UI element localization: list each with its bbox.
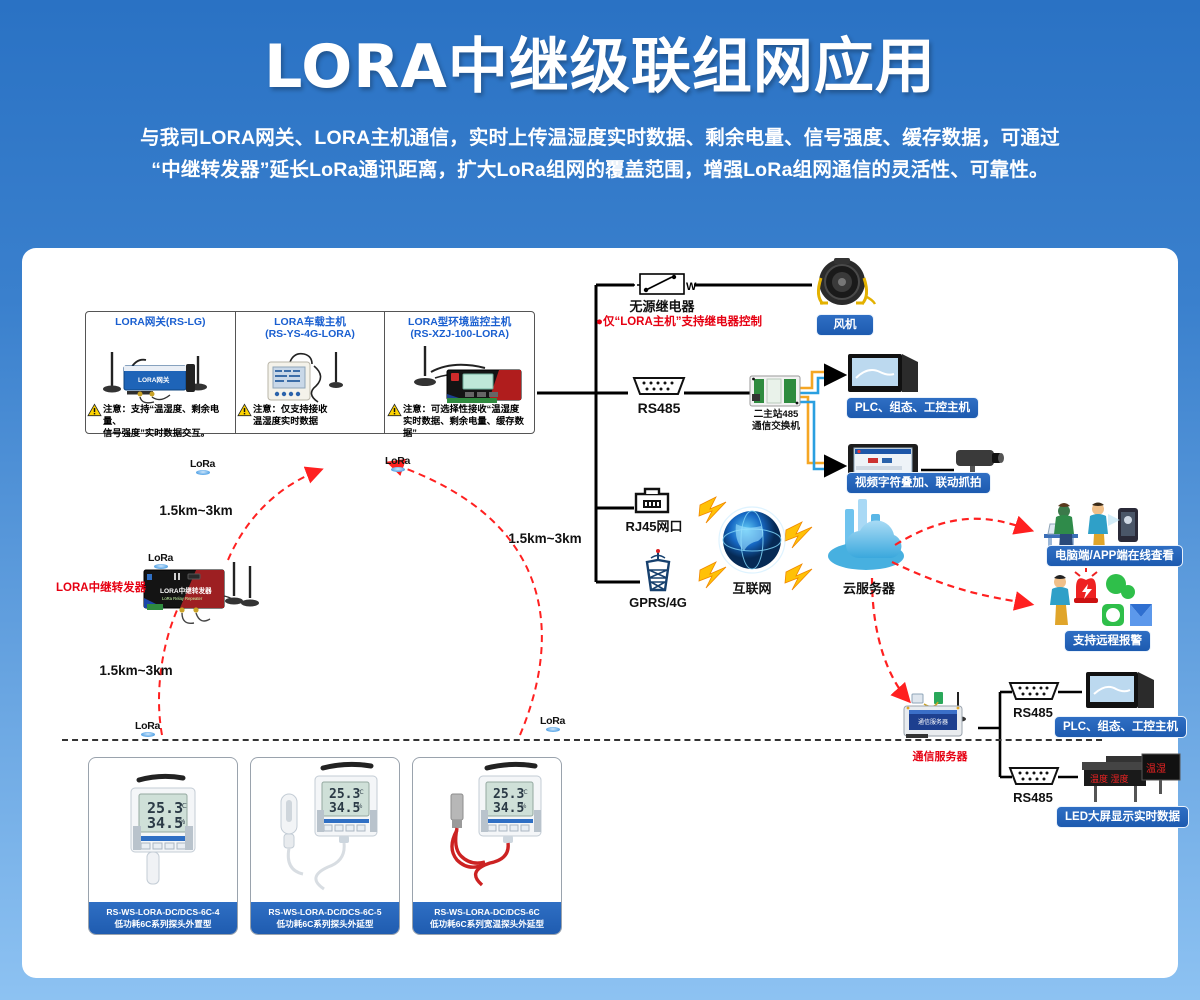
lora-signal-dot-icon xyxy=(141,732,155,737)
video-label: 视频字符叠加、联动抓拍 xyxy=(846,472,991,494)
svg-text:LORA中继转发器: LORA中继转发器 xyxy=(160,586,212,595)
distance-label-3: 1.5km~3km xyxy=(86,663,186,678)
relay-note: ●仅“LORA主机”支持继电器控制 xyxy=(596,313,786,329)
alarm-label: 支持远程报警 xyxy=(1064,630,1151,652)
rs485-switch-icon xyxy=(748,374,802,408)
page-header: LORA中继级联组网应用 与我司LORA网关、LORA主机通信，实时上传温湿度实… xyxy=(0,0,1200,186)
temp-humidity-sensor-extended-probe-icon: 25.3 ℃ 34.5 % xyxy=(251,758,400,904)
rj45-label: RJ45网口 xyxy=(616,516,692,535)
product-cell-env-host[interactable]: LORA型环境监控主机 (RS-XZJ-100-LORA) xyxy=(384,312,534,433)
repeater-label: LORA中继转发器 xyxy=(56,579,152,595)
cloud-server-label: 云服务器 xyxy=(828,578,910,597)
comm-server-label: 通信服务器 xyxy=(898,748,982,764)
svg-text:℃: ℃ xyxy=(521,790,528,796)
lora-vehicle-host-device-icon xyxy=(258,348,364,408)
product-name-env-host: LORA型环境监控主机 (RS-XZJ-100-LORA) xyxy=(388,316,531,341)
lora-signal-dot-icon xyxy=(546,727,560,732)
section-divider xyxy=(62,739,1102,741)
fan-label: 风机 xyxy=(816,314,874,336)
temp-humidity-sensor-wide-temp-probe-icon: 25.3 ℃ 34.5 % xyxy=(413,758,562,904)
pc-app-label: 电脑端/APP端在线查看 xyxy=(1046,545,1183,567)
svg-text:℃: ℃ xyxy=(179,803,187,810)
sensor-card-2[interactable]: 25.3 ℃ 34.5 % RS-WS-LORA-DC/DCS-6C-5 低功耗… xyxy=(250,757,400,935)
svg-text:%: % xyxy=(521,804,527,810)
lora-repeater-device-icon: LORA中继转发器 LoRa Relay Repeater xyxy=(138,560,266,632)
rs485-connector-icon-b xyxy=(1008,766,1060,788)
lora-badge-3: LoRa xyxy=(148,552,173,569)
gprs-4g-tower-icon xyxy=(638,548,678,594)
plc-hmi-monitor-icon xyxy=(846,352,924,396)
sensor-card-row: 25.3 ℃ 34.5 % RS-WS-LORA-DC/DCS-6C-4 低功耗… xyxy=(88,757,562,935)
product-row: LORA网关(RS-LG) LORA网关 LORA车载主机 (RS-YS-4G-… xyxy=(85,311,535,434)
rj45-port-icon xyxy=(632,488,672,514)
fan-icon xyxy=(808,256,878,312)
distance-label-2: 1.5km~3km xyxy=(495,531,595,546)
lora-badge-4: LoRa xyxy=(135,720,160,737)
sensor-hum-value-2: 34.5 xyxy=(329,801,360,816)
rs485-connector-icon xyxy=(632,376,686,398)
led-screen-label: LED大屏显示实时数据 xyxy=(1056,806,1189,828)
product-cell-gateway[interactable]: LORA网关(RS-LG) LORA网关 xyxy=(86,312,235,433)
plc-hmi-monitor-icon-bottom xyxy=(1084,670,1160,714)
svg-text:℃: ℃ xyxy=(357,790,364,796)
product-name-vehicle-host: LORA车载主机 (RS-YS-4G-LORA) xyxy=(239,316,382,341)
product-name-gateway: LORA网关(RS-LG) xyxy=(89,316,232,328)
plc-label-bottom: PLC、组态、工控主机 xyxy=(1054,716,1187,738)
lora-signal-dot-icon xyxy=(391,467,405,472)
communication-server-icon: 通信服务器 xyxy=(900,690,980,746)
lora-signal-dot-icon xyxy=(196,470,210,475)
product-cell-vehicle-host[interactable]: LORA车载主机 (RS-YS-4G-LORA) xyxy=(235,312,385,433)
sensor-caption-3: RS-WS-LORA-DC/DCS-6C 低功耗6C系列宽温探头外延型 xyxy=(413,902,561,934)
svg-text:通信服务器: 通信服务器 xyxy=(918,718,948,726)
page-subtitle: 与我司LORA网关、LORA主机通信，实时上传温湿度实时数据、剩余电量、信号强度… xyxy=(0,123,1200,186)
temp-humidity-sensor-builtin-probe-icon: 25.3 ℃ 34.5 % xyxy=(89,758,238,904)
sensor-temp-value-2: 25.3 xyxy=(329,787,360,802)
sensor-card-3[interactable]: 25.3 ℃ 34.5 % RS-WS-LORA-DC/DCS-6C 低功耗6C… xyxy=(412,757,562,935)
lora-gateway-device-icon: LORA网关 xyxy=(94,342,230,404)
sensor-temp-value-3: 25.3 xyxy=(493,787,524,802)
internet-label: 互联网 xyxy=(714,578,790,597)
subtitle-line-2: “中继转发器”延长LoRa通讯距离，扩大LoRa组网的覆盖范围，增强LoRa组网… xyxy=(0,155,1200,187)
lora-badge-2: LoRa xyxy=(385,455,410,472)
rs485-label-a: RS485 xyxy=(1004,705,1062,720)
plc-label-top: PLC、组态、工控主机 xyxy=(846,397,979,419)
rs485-label-b: RS485 xyxy=(1004,790,1062,805)
subtitle-line-1: 与我司LORA网关、LORA主机通信，实时上传温湿度实时数据、剩余电量、信号强度… xyxy=(0,123,1200,155)
svg-text:%: % xyxy=(357,804,363,810)
sensor-hum-value-3: 34.5 xyxy=(493,801,524,816)
lora-badge-1: LoRa xyxy=(190,458,215,475)
led-display-board-icon: 温度 湿度 温湿 xyxy=(1078,748,1182,804)
svg-text:温湿: 温湿 xyxy=(1146,763,1166,775)
remote-alarm-illustration xyxy=(1036,572,1152,628)
gprs-label: GPRS/4G xyxy=(618,595,698,610)
rs485-connector-icon-a xyxy=(1008,681,1060,703)
rs485-switch-label: 二主站485 通信交换机 xyxy=(735,409,817,433)
rs485-label-trunk: RS485 xyxy=(630,400,688,416)
svg-text:温度 湿度: 温度 湿度 xyxy=(1090,773,1129,784)
distance-label-1: 1.5km~3km xyxy=(146,503,246,518)
svg-text:LoRa Relay Repeater: LoRa Relay Repeater xyxy=(162,596,203,601)
svg-text:LORA网关: LORA网关 xyxy=(138,375,170,384)
sensor-card-1[interactable]: 25.3 ℃ 34.5 % RS-WS-LORA-DC/DCS-6C-4 低功耗… xyxy=(88,757,238,935)
svg-text:%: % xyxy=(179,819,185,826)
sensor-caption-2: RS-WS-LORA-DC/DCS-6C-5 低功耗6C系列探头外延型 xyxy=(251,902,399,934)
page-title: LORA中继级联组网应用 xyxy=(0,36,1200,99)
lora-signal-dot-icon xyxy=(154,564,168,569)
sensor-caption-1: RS-WS-LORA-DC/DCS-6C-4 低功耗6C系列探头外置型 xyxy=(89,902,237,934)
sensor-hum-value-1: 34.5 xyxy=(147,814,183,832)
lora-env-monitor-host-device-icon xyxy=(391,342,531,408)
lora-badge-5: LoRa xyxy=(540,715,565,732)
